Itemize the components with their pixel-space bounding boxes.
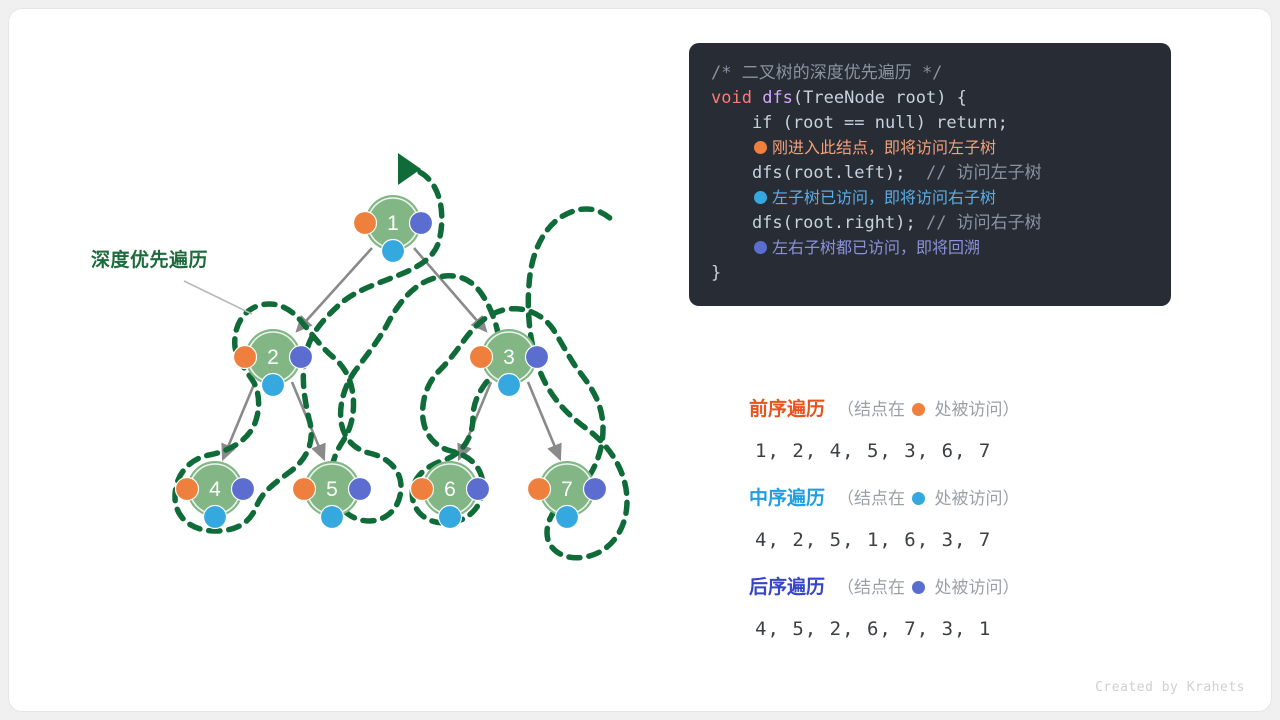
binary-tree-diagram: 1234567 深度优先遍历 (9, 9, 689, 712)
inorder-dot-icon (754, 191, 767, 204)
figure-card: 1234567 深度优先遍历 /* 二叉树的深度优先遍历 */ void dfs… (8, 8, 1272, 712)
node-value: 5 (326, 478, 338, 501)
code-comment-left: // 访问左子树 (926, 163, 1042, 183)
tree-nodes: 1234567 (176, 195, 607, 529)
inorder-marker-dot (321, 506, 344, 529)
orange-marker-dot-icon (912, 403, 925, 416)
preorder-marker-dot (176, 478, 199, 501)
code-comment-header: /* 二叉树的深度优先遍历 */ (711, 63, 942, 83)
code-call-left: dfs(root.left); (711, 163, 905, 183)
preorder-dot-icon (754, 141, 767, 154)
tree-node-4[interactable]: 4 (176, 461, 255, 529)
traversal-sequence-3: 4, 5, 2, 6, 7, 3, 1 (755, 614, 1219, 644)
postorder-marker-dot (526, 346, 549, 369)
traversal-name: 后序遍历 (749, 577, 825, 598)
inorder-marker-dot (556, 506, 579, 529)
postorder-marker-dot (410, 212, 433, 235)
code-comment-right: // 访问右子树 (926, 213, 1042, 233)
tree-node-5[interactable]: 5 (293, 461, 372, 529)
label-leader-line (184, 281, 252, 314)
tree-svg: 1234567 (9, 9, 689, 712)
node-value: 7 (561, 478, 573, 501)
code-annotation-preorder: 刚进入此结点，即将访问左子树 (772, 140, 996, 157)
code-annotation-inorder: 左子树已访问，即将访问右子树 (772, 190, 996, 207)
code-null-guard: if (root == null) return; (711, 113, 1008, 133)
postorder-marker-dot (290, 346, 313, 369)
traversal-heading-1: 前序遍历（结点在 处被访问） (749, 395, 1219, 425)
preorder-marker-dot (234, 346, 257, 369)
inorder-marker-dot (439, 506, 462, 529)
postorder-marker-dot (467, 478, 490, 501)
blue-marker-dot-icon (912, 492, 925, 505)
traversal-heading-3: 后序遍历（结点在 处被访问） (749, 573, 1219, 603)
tree-node-2[interactable]: 2 (234, 329, 313, 397)
traversal-results: 前序遍历（结点在 处被访问）1, 2, 4, 5, 3, 6, 7中序遍历（结点… (749, 395, 1219, 662)
inorder-marker-dot (498, 374, 521, 397)
node-value: 2 (267, 346, 279, 369)
node-value: 6 (444, 478, 456, 501)
inorder-marker-dot (204, 506, 227, 529)
inorder-marker-dot (262, 374, 285, 397)
node-value: 4 (209, 478, 221, 501)
preorder-marker-dot (528, 478, 551, 501)
preorder-marker-dot (354, 212, 377, 235)
code-keyword-void: void (711, 88, 752, 108)
preorder-marker-dot (470, 346, 493, 369)
postorder-dot-icon (754, 241, 767, 254)
traversal-name: 前序遍历 (749, 399, 825, 420)
code-annotation-postorder: 左右子树都已访问，即将回溯 (772, 240, 980, 257)
dfs-label: 深度优先遍历 (91, 245, 208, 272)
purple-marker-dot-icon (912, 581, 925, 594)
preorder-marker-dot (411, 478, 434, 501)
traversal-sequence-1: 1, 2, 4, 5, 3, 6, 7 (755, 436, 1219, 466)
node-value: 3 (503, 346, 515, 369)
postorder-marker-dot (232, 478, 255, 501)
code-call-right: dfs(root.right); (711, 213, 916, 233)
code-closing-brace: } (711, 263, 721, 283)
traversal-note: （结点在 处被访问） (837, 489, 1019, 508)
postorder-marker-dot (349, 478, 372, 501)
preorder-marker-dot (293, 478, 316, 501)
start-arrow-icon (398, 153, 421, 185)
code-signature-rest: (TreeNode root) { (793, 88, 967, 108)
traversal-sequence-2: 4, 2, 5, 1, 6, 3, 7 (755, 525, 1219, 555)
code-function-name: dfs (762, 88, 793, 108)
traversal-note: （结点在 处被访问） (837, 400, 1019, 419)
inorder-marker-dot (382, 240, 405, 263)
traversal-note: （结点在 处被访问） (837, 578, 1019, 597)
postorder-marker-dot (584, 478, 607, 501)
credit-text: Created by Krahets (1095, 680, 1245, 695)
traversal-name: 中序遍历 (749, 488, 825, 509)
edge-3-7 (528, 382, 560, 459)
tree-node-1[interactable]: 1 (354, 195, 433, 263)
node-value: 1 (387, 212, 399, 235)
traversal-heading-2: 中序遍历（结点在 处被访问） (749, 484, 1219, 514)
code-block: /* 二叉树的深度优先遍历 */ void dfs(TreeNode root)… (689, 43, 1171, 306)
